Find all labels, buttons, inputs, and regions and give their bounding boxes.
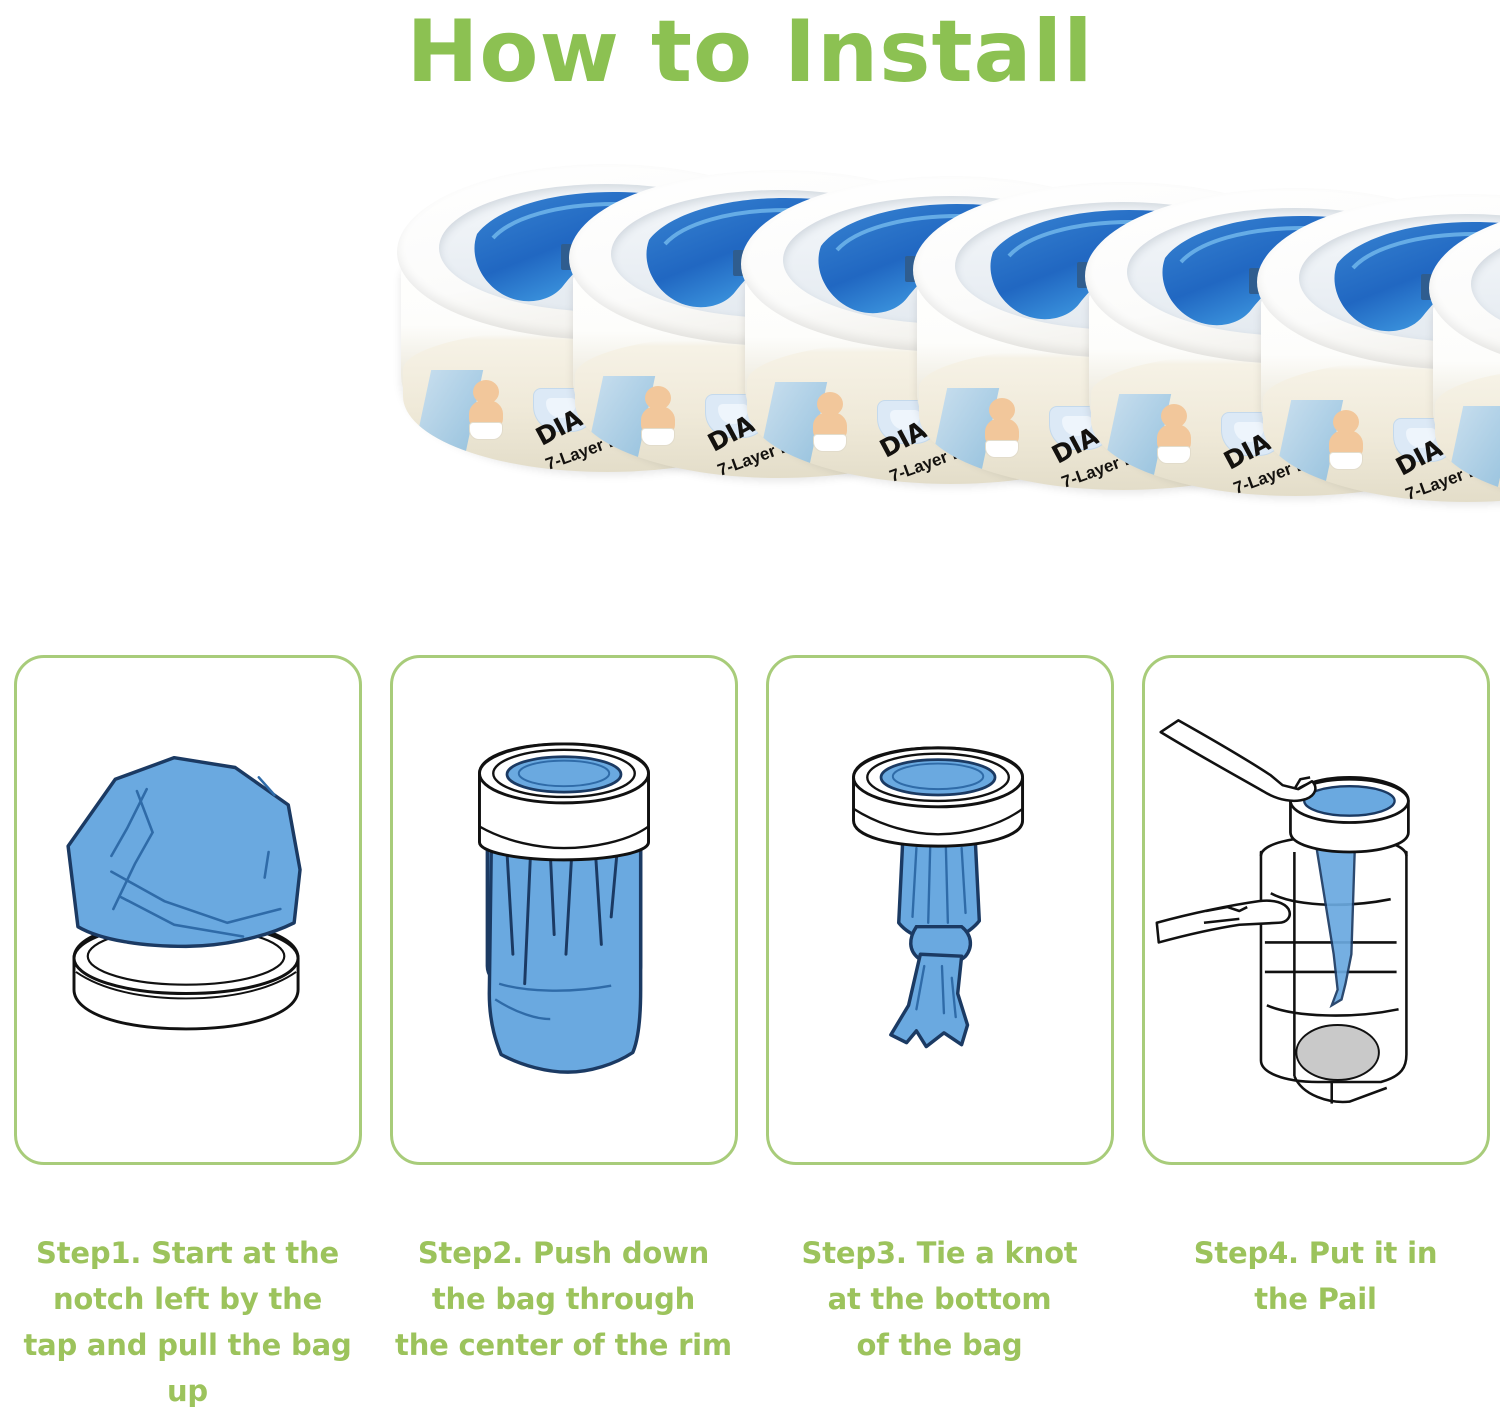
- baby-diaper-graphic: [1329, 452, 1363, 470]
- baby-head-graphic: [817, 392, 843, 416]
- product-cartridge: HOLDS UP TO300NEWBORN DIAPERSDIAPER PAIL…: [1425, 194, 1500, 574]
- baby-head-graphic: [645, 386, 671, 410]
- step-captions: Step1. Start at the notch left by the ta…: [0, 1230, 1500, 1376]
- caption-line: Step2. Push down: [376, 1230, 751, 1276]
- step-panel-2: [390, 655, 738, 1165]
- step-panel-3: [766, 655, 1114, 1165]
- product-photo-row: HOLDS UP TO300NEWBORN DIAPERSDIAPER PAIL…: [0, 150, 1500, 620]
- baby-diaper-graphic: [469, 422, 503, 440]
- caption-line: Step3. Tie a knot: [752, 1230, 1127, 1276]
- step-caption-2: Step2. Push down the bag through the cen…: [376, 1230, 751, 1368]
- caption-line: of the bag: [752, 1322, 1127, 1368]
- baby-diaper-graphic: [641, 428, 675, 446]
- step-panel-4: [1142, 655, 1490, 1165]
- step-caption-1: Step1. Start at the notch left by the ta…: [0, 1230, 375, 1414]
- baby-diaper-graphic: [1157, 446, 1191, 464]
- baby-diaper-graphic: [813, 434, 847, 452]
- step-caption-4: Step4. Put it in the Pail: [1128, 1230, 1500, 1322]
- step-caption-3: Step3. Tie a knot at the bottom of the b…: [752, 1230, 1127, 1368]
- illustration-place-in-pail: [1145, 658, 1487, 1162]
- page-title: How to Install: [0, 0, 1500, 110]
- step-panel-1: [14, 655, 362, 1165]
- caption-line: Step1. Start at the: [0, 1230, 375, 1276]
- step-illustration-panels: [0, 655, 1500, 1175]
- illustration-bag-pushed-through: [393, 658, 735, 1162]
- caption-line: notch left by the: [0, 1276, 375, 1322]
- illustration-bag-pulled-up: [17, 658, 359, 1162]
- baby-head-graphic: [989, 398, 1015, 422]
- caption-line: the bag through: [376, 1276, 751, 1322]
- baby-head-graphic: [1161, 404, 1187, 428]
- caption-line: Step4. Put it in: [1128, 1230, 1500, 1276]
- baby-head-graphic: [1333, 410, 1359, 434]
- baby-diaper-graphic: [985, 440, 1019, 458]
- caption-line: the Pail: [1128, 1276, 1500, 1322]
- blue-bag-ring: [1469, 216, 1500, 350]
- caption-line: at the bottom: [752, 1276, 1127, 1322]
- baby-head-graphic: [473, 380, 499, 404]
- label-blue-accent: [1443, 406, 1500, 502]
- caption-line: tap and pull the bag up: [0, 1322, 375, 1414]
- illustration-bag-tied-knot: [769, 658, 1111, 1162]
- caption-line: the center of the rim: [376, 1322, 751, 1368]
